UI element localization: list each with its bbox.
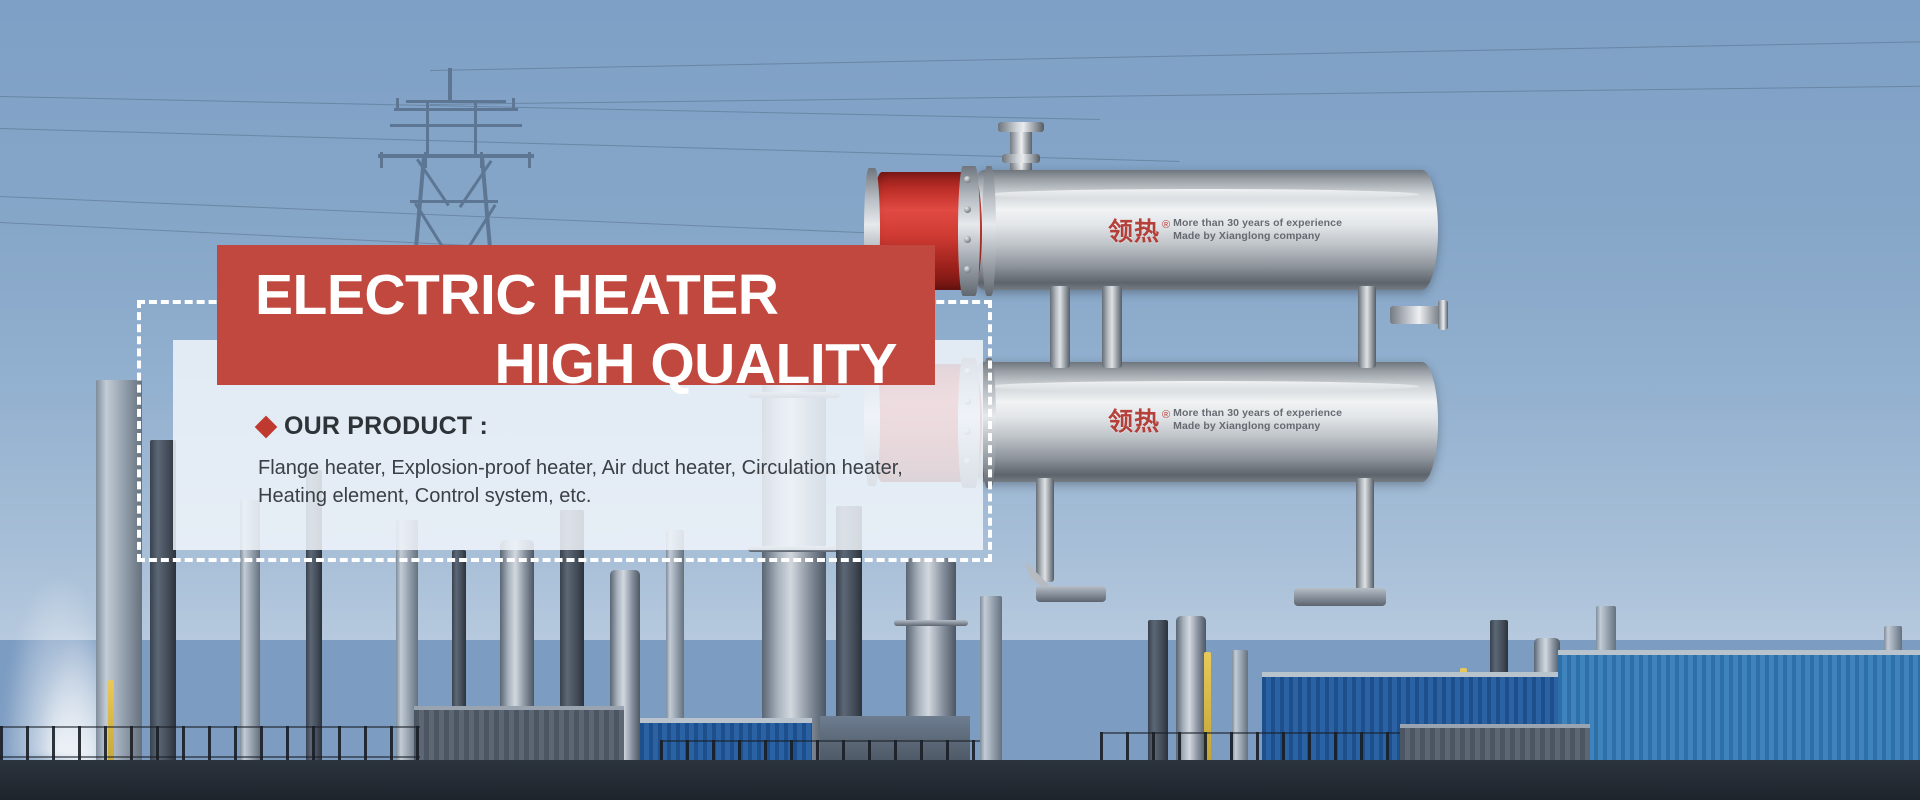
nozzle-flange	[1438, 300, 1448, 330]
brand-tagline-line1: More than 30 years of experience	[1173, 407, 1342, 420]
support-leg	[1356, 478, 1374, 598]
nozzle-flange	[1002, 154, 1040, 163]
pipe-elbow	[1026, 562, 1052, 588]
brand-chinese-name: 领热	[1108, 402, 1160, 438]
headline-line-1: ELECTRIC HEATER	[217, 245, 935, 324]
outlet-pipe	[1294, 588, 1386, 606]
connecting-pipe	[1050, 286, 1070, 368]
support-leg	[1358, 286, 1376, 368]
headline-line-2: HIGH QUALITY	[217, 324, 935, 393]
connecting-pipe	[1102, 286, 1122, 368]
brand-tagline-line2: Made by Xianglong company	[1173, 230, 1342, 243]
bolted-flange	[958, 166, 980, 296]
inlet-pipe	[1036, 586, 1106, 602]
flange-bolt	[964, 266, 971, 273]
brand-tagline-line1: More than 30 years of experience	[1173, 217, 1342, 230]
product-description: Flange heater, Explosion-proof heater, A…	[258, 454, 913, 511]
brand-tagline-line2: Made by Xianglong company	[1173, 420, 1342, 433]
flange-bolt	[964, 176, 971, 183]
registered-trademark-icon: ®	[1162, 219, 1170, 231]
our-product-label: OUR PRODUCT :	[284, 412, 488, 441]
product-brand-top: 领热 ® More than 30 years of experience Ma…	[1108, 212, 1342, 248]
headline-banner: ELECTRIC HEATER HIGH QUALITY	[217, 245, 935, 385]
ground-strip	[0, 760, 1920, 800]
product-brand-bottom: 领热 ® More than 30 years of experience Ma…	[1108, 402, 1342, 438]
registered-trademark-icon: ®	[1162, 409, 1170, 421]
brand-chinese-name: 领热	[1108, 212, 1160, 248]
hero-banner: 领热 ® More than 30 years of experience Ma…	[0, 0, 1920, 800]
info-content: OUR PRODUCT : Flange heater, Explosion-p…	[258, 412, 938, 511]
our-product-heading: OUR PRODUCT :	[258, 412, 938, 441]
flange-bolt	[964, 236, 971, 243]
bolted-flange	[982, 166, 996, 296]
diamond-bullet-icon	[255, 415, 278, 438]
nozzle-flange	[998, 122, 1044, 132]
flange-bolt	[964, 206, 971, 213]
